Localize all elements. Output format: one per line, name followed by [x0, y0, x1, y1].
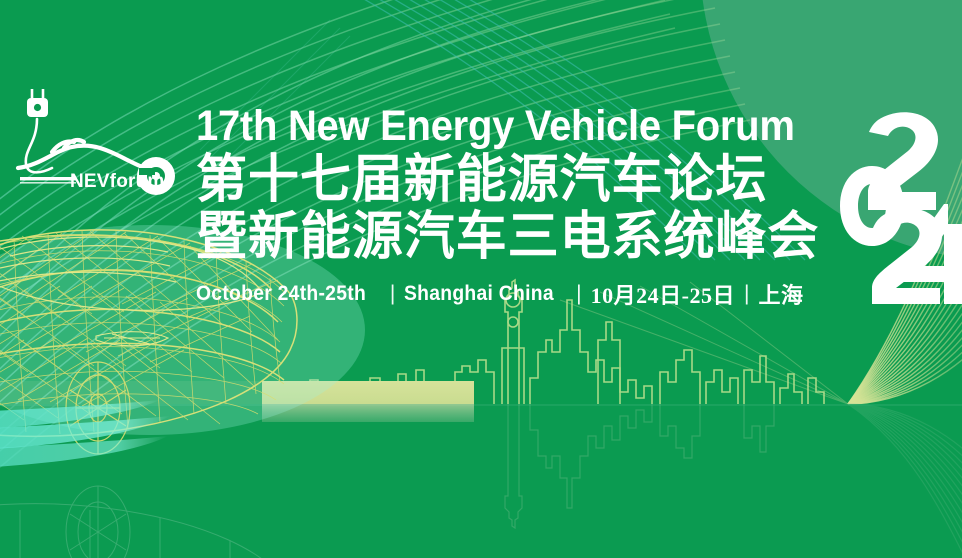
- charging-plug-icon: [27, 89, 48, 117]
- headline-english: 17th New Energy Vehicle Forum: [196, 104, 791, 148]
- logo-wordmark: NEVforum: [70, 171, 165, 193]
- headline-chinese-line1: 第十七届新能源汽车论坛: [196, 152, 823, 208]
- year-badge: [838, 104, 962, 304]
- headline-block: 17th New Energy Vehicle Forum 第十七届新能源汽车论…: [196, 104, 836, 310]
- event-poster: NEVforum 17th New Energy Vehicle Forum 第…: [0, 0, 962, 558]
- headline-chinese-line2: 暨新能源汽车三电系统峰会: [196, 209, 823, 265]
- meta-separator-2: |: [567, 282, 590, 306]
- logo-underline: [20, 177, 76, 180]
- logo-brand-light: forum: [110, 171, 165, 192]
- meta-location-chinese: 上海: [758, 278, 803, 310]
- meta-date-chinese: 10月24日-25日: [591, 278, 735, 310]
- event-meta-line: October 24th-25th | Shanghai China | 10月…: [196, 278, 836, 310]
- nevforum-logo[interactable]: NEVforum: [8, 72, 188, 217]
- logo-brand-bold: NEV: [70, 171, 110, 192]
- meta-separator-1: |: [381, 282, 404, 306]
- meta-location-english: Shanghai China: [404, 282, 554, 306]
- meta-date-english: October 24th-25th: [196, 282, 366, 306]
- meta-separator-3: |: [735, 282, 758, 306]
- year-bottom-group: [872, 204, 962, 304]
